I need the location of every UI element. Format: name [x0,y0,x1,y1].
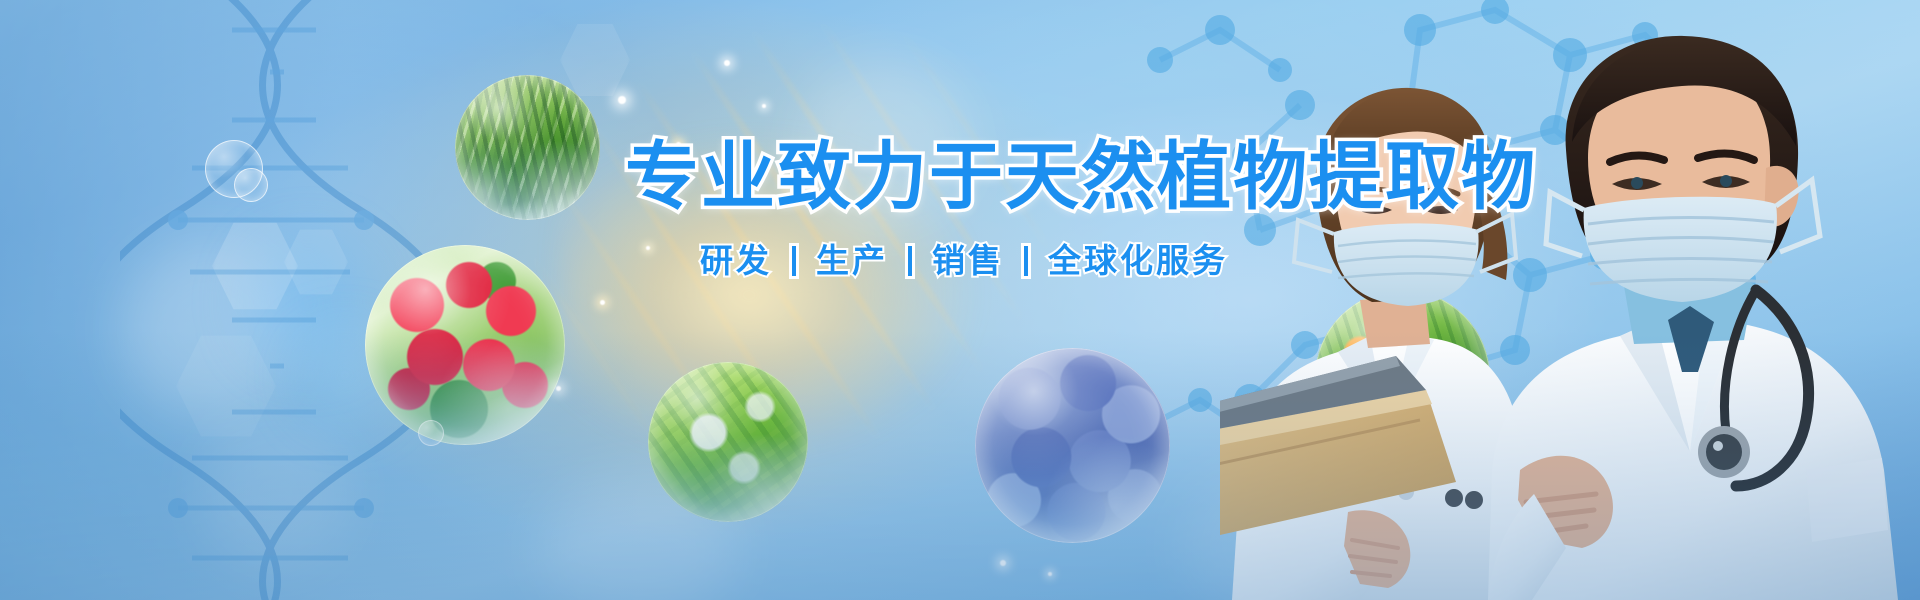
lab-scientists-photo [1220,0,1920,600]
subtitle-item-rd: 研发 [700,244,772,277]
page-title: 专业致力于天然植物提取物 [625,140,1537,214]
sparkle [618,96,626,104]
red-berry-sphere[interactable] [365,245,565,445]
blueberry-sphere[interactable] [975,348,1170,543]
sparkle [762,104,766,108]
sparkle [600,300,605,305]
sparkle [1000,560,1006,566]
sparkle [646,246,650,250]
green-leaf-sphere[interactable] [648,362,808,522]
glass-highlight [365,245,565,445]
male-scientist [1488,36,1898,600]
hero-banner: 专业致力于天然植物提取物 研发 生产 销售 全球化服务 [0,0,1920,600]
green-tea-sphere[interactable] [455,75,600,220]
subtitle-separator [792,246,796,276]
subtitle-separator [1024,246,1028,276]
soap-bubble-icon [418,420,444,446]
subtitle-item-produce: 生产 [816,244,888,277]
subtitle-list: 研发 生产 销售 全球化服务 [700,244,1228,277]
subtitle-separator [908,246,912,276]
sparkle [1048,572,1052,576]
sparkle [724,60,730,66]
glass-highlight [975,348,1170,543]
subtitle-item-global: 全球化服务 [1048,244,1228,277]
subtitle-item-sales: 销售 [932,244,1004,277]
sparkle [556,386,561,391]
glass-highlight [648,362,808,522]
soap-bubble-icon [234,168,268,202]
glass-highlight [455,75,600,220]
